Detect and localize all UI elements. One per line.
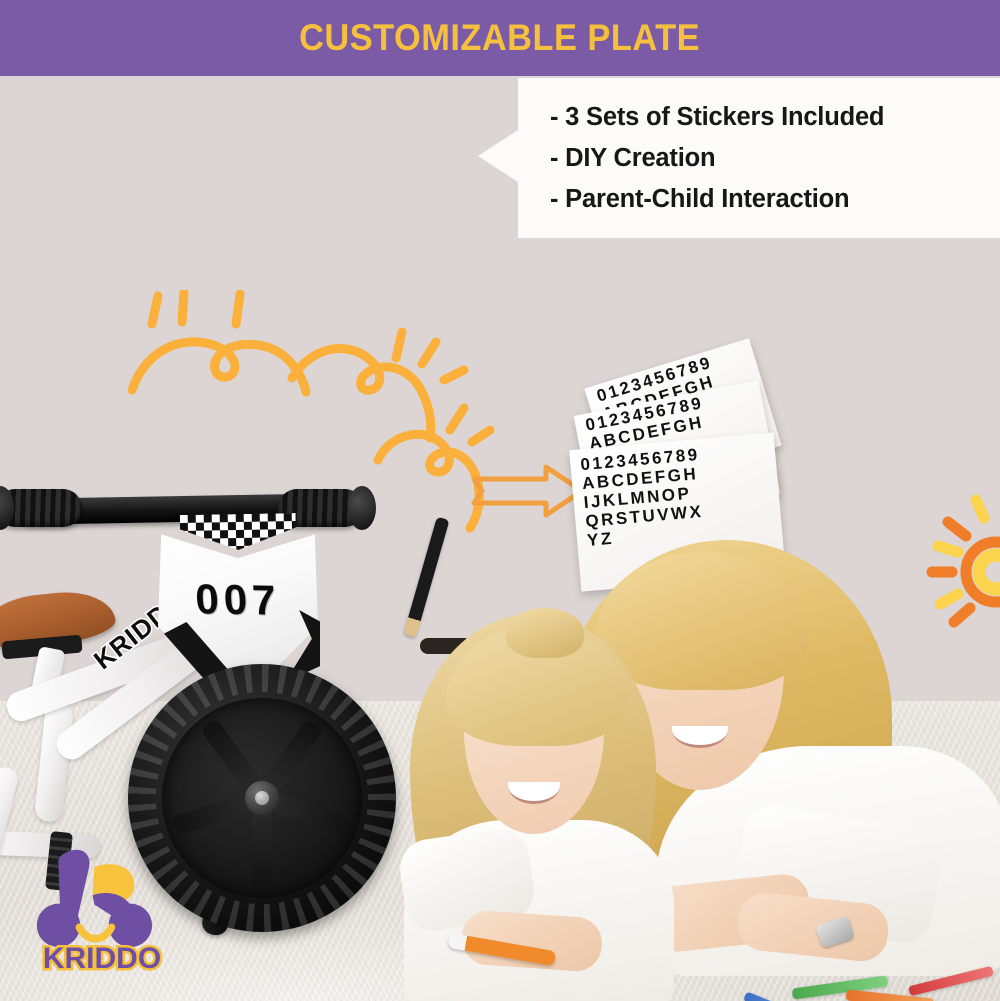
feature-callout: - 3 Sets of Stickers Included - DIY Crea… (478, 78, 1000, 238)
brand-logo: KRIDDO (26, 846, 178, 986)
child-ponytail (506, 608, 584, 658)
checkered-flag-pattern (180, 513, 297, 551)
feature-item: - Parent-Child Interaction (550, 185, 1000, 214)
product-image-canvas: CUSTOMIZABLE PLATE KRIDDO (0, 0, 1000, 1001)
page-title: CUSTOMIZABLE PLATE (300, 17, 701, 59)
number-plate: 007 (158, 514, 318, 684)
seat-tube (34, 701, 74, 823)
hub-bolt (255, 791, 269, 805)
grip-end-cap-right (348, 486, 376, 530)
header-banner: CUSTOMIZABLE PLATE (0, 0, 1000, 76)
plate-number-text: 007 (157, 575, 320, 626)
brand-wordmark: KRIDDO (26, 942, 178, 976)
lifestyle-photo (420, 516, 1000, 1001)
mouth (672, 726, 728, 748)
feature-item: - DIY Creation (550, 144, 1000, 173)
mouth (508, 782, 560, 804)
rear-fork-tube (0, 765, 20, 887)
feature-item: - 3 Sets of Stickers Included (550, 103, 1000, 132)
scooter-logo-icon (26, 846, 178, 950)
